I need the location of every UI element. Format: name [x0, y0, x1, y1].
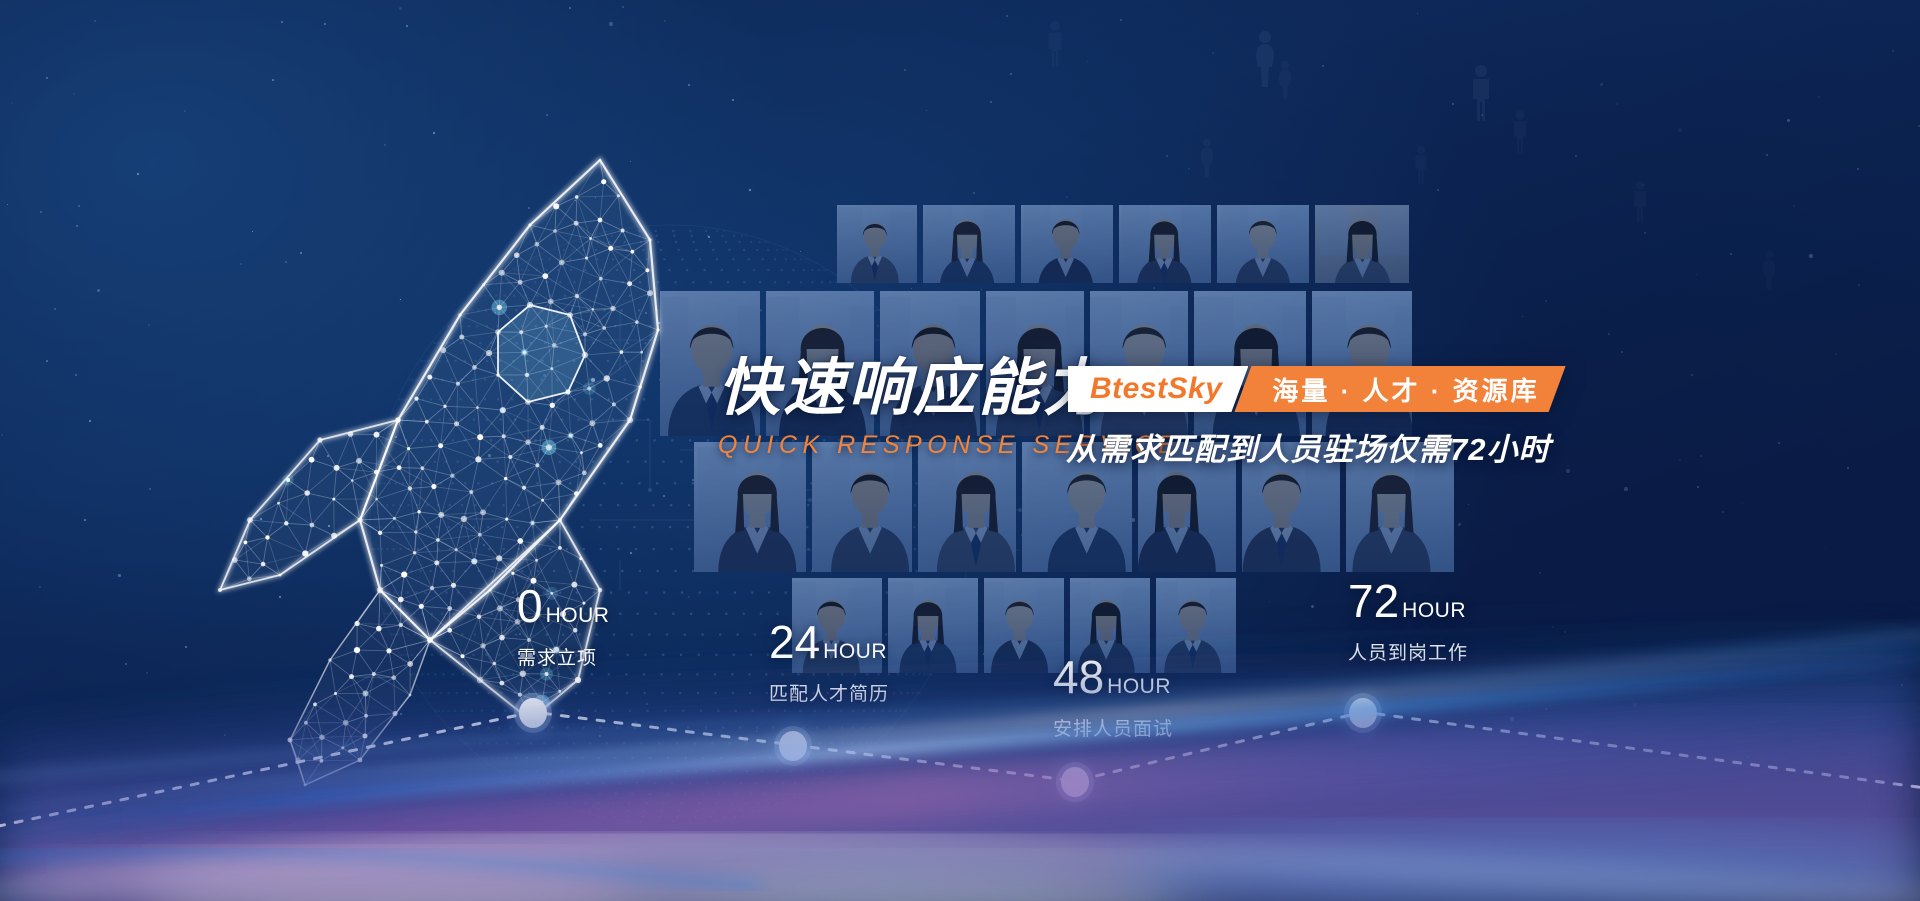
- aurora-light-streaks: [0, 601, 1920, 901]
- photo-veil: [1119, 205, 1211, 283]
- person-male-icon: [1412, 145, 1430, 185]
- person-male-icon: [1468, 64, 1494, 122]
- photo-veil: [923, 205, 1015, 283]
- person-male-icon: [1510, 110, 1530, 154]
- banner-root: 快速响应能力 QUICK RESPONSE SERVICE BtestSky 海…: [0, 0, 1920, 901]
- brand-name: BtestSky: [1068, 366, 1248, 412]
- photo-tile: [1315, 205, 1409, 283]
- tagline: 从需求匹配到人员驻场仅需72小时: [1066, 424, 1550, 469]
- photo-tile: [1021, 205, 1113, 283]
- photo-tile: [1119, 205, 1211, 283]
- person-male-icon: [1044, 20, 1066, 68]
- photo-tile: [837, 205, 917, 283]
- person-female-icon: [1760, 250, 1778, 290]
- photo-veil: [1315, 205, 1409, 283]
- photo-veil: [1021, 205, 1113, 283]
- person-female-icon: [1252, 30, 1278, 88]
- brand-badge: BtestSky 海量 · 人才 · 资源库: [1068, 366, 1566, 412]
- photo-veil: [837, 205, 917, 283]
- person-female-icon: [1198, 138, 1216, 178]
- photo-tile: [1217, 205, 1309, 283]
- person-female-icon: [1276, 60, 1294, 100]
- photo-veil: [1217, 205, 1309, 283]
- brand-slogan: 海量 · 人才 · 资源库: [1234, 366, 1565, 412]
- photo-tile: [923, 205, 1015, 283]
